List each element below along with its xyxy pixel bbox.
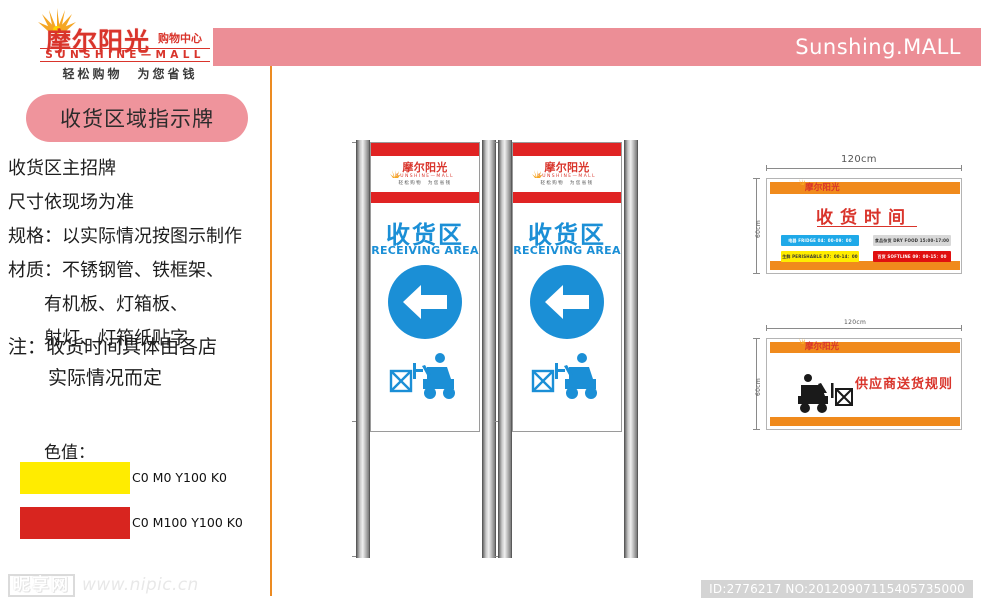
panel-band-top [371, 143, 479, 156]
note-line-2: 实际情况而定 [8, 363, 270, 394]
dimension-cap [766, 325, 767, 331]
brand-en-text: SUNSHINE—MALL [40, 48, 210, 62]
watermark: 昵享网 www.nipic.cn [8, 568, 199, 602]
dimension-tick [753, 178, 760, 179]
vertical-divider [270, 66, 272, 596]
panel-band-bottom [371, 192, 479, 203]
time-chip-dryfood: 食品杂货 DRY FOOD 15:00-17:00 [873, 235, 951, 246]
supplier-rules-sign: 120cm 60cm 摩尔阳光 供应商送货规则 [752, 320, 966, 440]
height-dimension-label: 60cm [755, 378, 762, 396]
sign-title: 供应商送货规则 [855, 373, 953, 392]
sign-text-en: RECEIVING AREA [371, 244, 479, 257]
spec-list: 收货区主招牌 尺寸依现场为准 规格：以实际情况按图示制作 材质：不锈钢管、铁框架… [8, 152, 266, 356]
sign-unit-a: 摩尔阳光 SUNSHINE—MALL 轻松购物 为您省钱 收货区 RECEIVI… [350, 140, 500, 560]
poster-canvas: Sunshing.MALL 摩尔阳光 购物中心 SUNSHINE—MALL 轻松… [0, 0, 981, 608]
dimension-tick [753, 338, 760, 339]
dimension-tick [753, 429, 760, 430]
sign-unit-b: 摩尔阳光 SUNSHINE—MALL 轻松购物 为您省钱 收货区 RECEIVI… [492, 140, 642, 560]
sign-band-bottom [770, 417, 960, 426]
sign-title: 收货时间 [767, 203, 961, 228]
time-chip-electrical: 电器 FRIDGE 04：00-09：00 [781, 235, 859, 246]
color-swatch-red [20, 507, 130, 539]
sun-burst-icon [389, 170, 402, 179]
arrow-left-icon [388, 265, 462, 339]
watermark-url: www.nipic.cn [82, 575, 199, 595]
page-title: 收货区域指示牌 [26, 94, 248, 142]
forklift-icon [387, 349, 463, 401]
panel-logo: 摩尔阳光 SUNSHINE—MALL 轻松购物 为您省钱 [371, 158, 479, 191]
forklift-icon [529, 349, 605, 401]
top-banner: Sunshing.MALL [213, 28, 981, 66]
panel-logo: 摩尔阳光 SUNSHINE—MALL 轻松购物 为您省钱 [513, 158, 621, 191]
sign-panel: 摩尔阳光 SUNSHINE—MALL 轻松购物 为您省钱 收货区 RECEIVI… [370, 142, 480, 432]
spec-line: 有机板、灯箱板、 [8, 288, 266, 322]
panel-logo-main: 摩尔阳光 [544, 162, 589, 174]
width-dimension-label: 120cm [840, 319, 870, 326]
spec-line: 收货区主招牌 [8, 152, 266, 186]
width-dimension-label: 120cm [837, 154, 881, 165]
sign-text-en: RECEIVING AREA [513, 244, 621, 257]
panel-band-top [513, 143, 621, 156]
forklift-icon [791, 371, 857, 415]
spec-line: 材质：不锈钢管、铁框架、 [8, 254, 266, 288]
receiving-time-frame: 摩尔阳光 收货时间 电器 FRIDGE 04：00-09：00 食品杂货 DRY… [766, 178, 962, 274]
spec-line: 规格：以实际情况按图示制作 [8, 220, 266, 254]
brand-tagline: 轻松购物 为您省钱 [40, 65, 220, 82]
brand-sub-text: 购物中心 [158, 30, 202, 46]
time-chip-perishable: 生鲜 PERISHABLE 07：00-14：00 [781, 251, 859, 262]
arrow-left-glyph [399, 282, 451, 322]
dimension-tick [753, 273, 760, 274]
color-swatch-yellow [20, 462, 130, 494]
color-values-label: 色值： [44, 438, 95, 463]
sign-post-left [356, 140, 370, 558]
dimension-cap [961, 165, 962, 171]
time-chip-softline: 百货 SOFTLINE 09：00-15：00 [873, 251, 951, 262]
note-line-1: 注：收货时间具体由各店 [8, 332, 270, 363]
panel-logo-tagline: 轻松购物 为您省钱 [540, 180, 593, 187]
sign-post-right [624, 140, 638, 558]
panel-logo-tagline: 轻松购物 为您省钱 [398, 180, 451, 187]
sign-title-underline [817, 226, 917, 227]
panel-logo-main: 摩尔阳光 [402, 162, 447, 174]
panel-band-bottom [513, 192, 621, 203]
color-swatch-red-caption: C0 M100 Y100 K0 [132, 515, 243, 530]
height-dimension-label: 60cm [755, 220, 762, 238]
receiving-time-sign: 120cm 60cm 摩尔阳光 收货时间 电器 FRIDGE 04：00-09：… [752, 160, 966, 280]
arrow-left-icon [530, 265, 604, 339]
width-dimension-line [766, 168, 962, 169]
color-swatch-yellow-caption: C0 M0 Y100 K0 [132, 470, 227, 485]
brand-logo: 摩尔阳光 购物中心 SUNSHINE—MALL 轻松购物 为您省钱 [18, 8, 210, 80]
watermark-badge: 昵享网 [8, 574, 75, 597]
sign-logo-text: 摩尔阳光 [805, 181, 840, 193]
dimension-cap [766, 165, 767, 171]
banner-title: Sunshing.MALL [795, 35, 961, 59]
spec-line: 尺寸依现场为准 [8, 186, 266, 220]
image-id-text: ID:2776217 NO:20120907115405735000 [701, 580, 973, 598]
sign-post-left [498, 140, 512, 558]
arrow-left-glyph [541, 282, 593, 322]
width-dimension-line [766, 328, 962, 329]
sign-logo-text: 摩尔阳光 [805, 340, 839, 352]
sign-panel: 摩尔阳光 SUNSHINE—MALL 轻松购物 为您省钱 收货区 RECEIVI… [512, 142, 622, 432]
supplier-rules-frame: 摩尔阳光 供应商送货规则 [766, 338, 962, 430]
spec-note: 注：收货时间具体由各店 实际情况而定 [8, 332, 270, 394]
page-title-label: 收货区域指示牌 [60, 103, 214, 133]
sun-burst-icon [531, 170, 544, 179]
sign-band-bottom [770, 261, 960, 270]
dimension-cap [961, 325, 962, 331]
